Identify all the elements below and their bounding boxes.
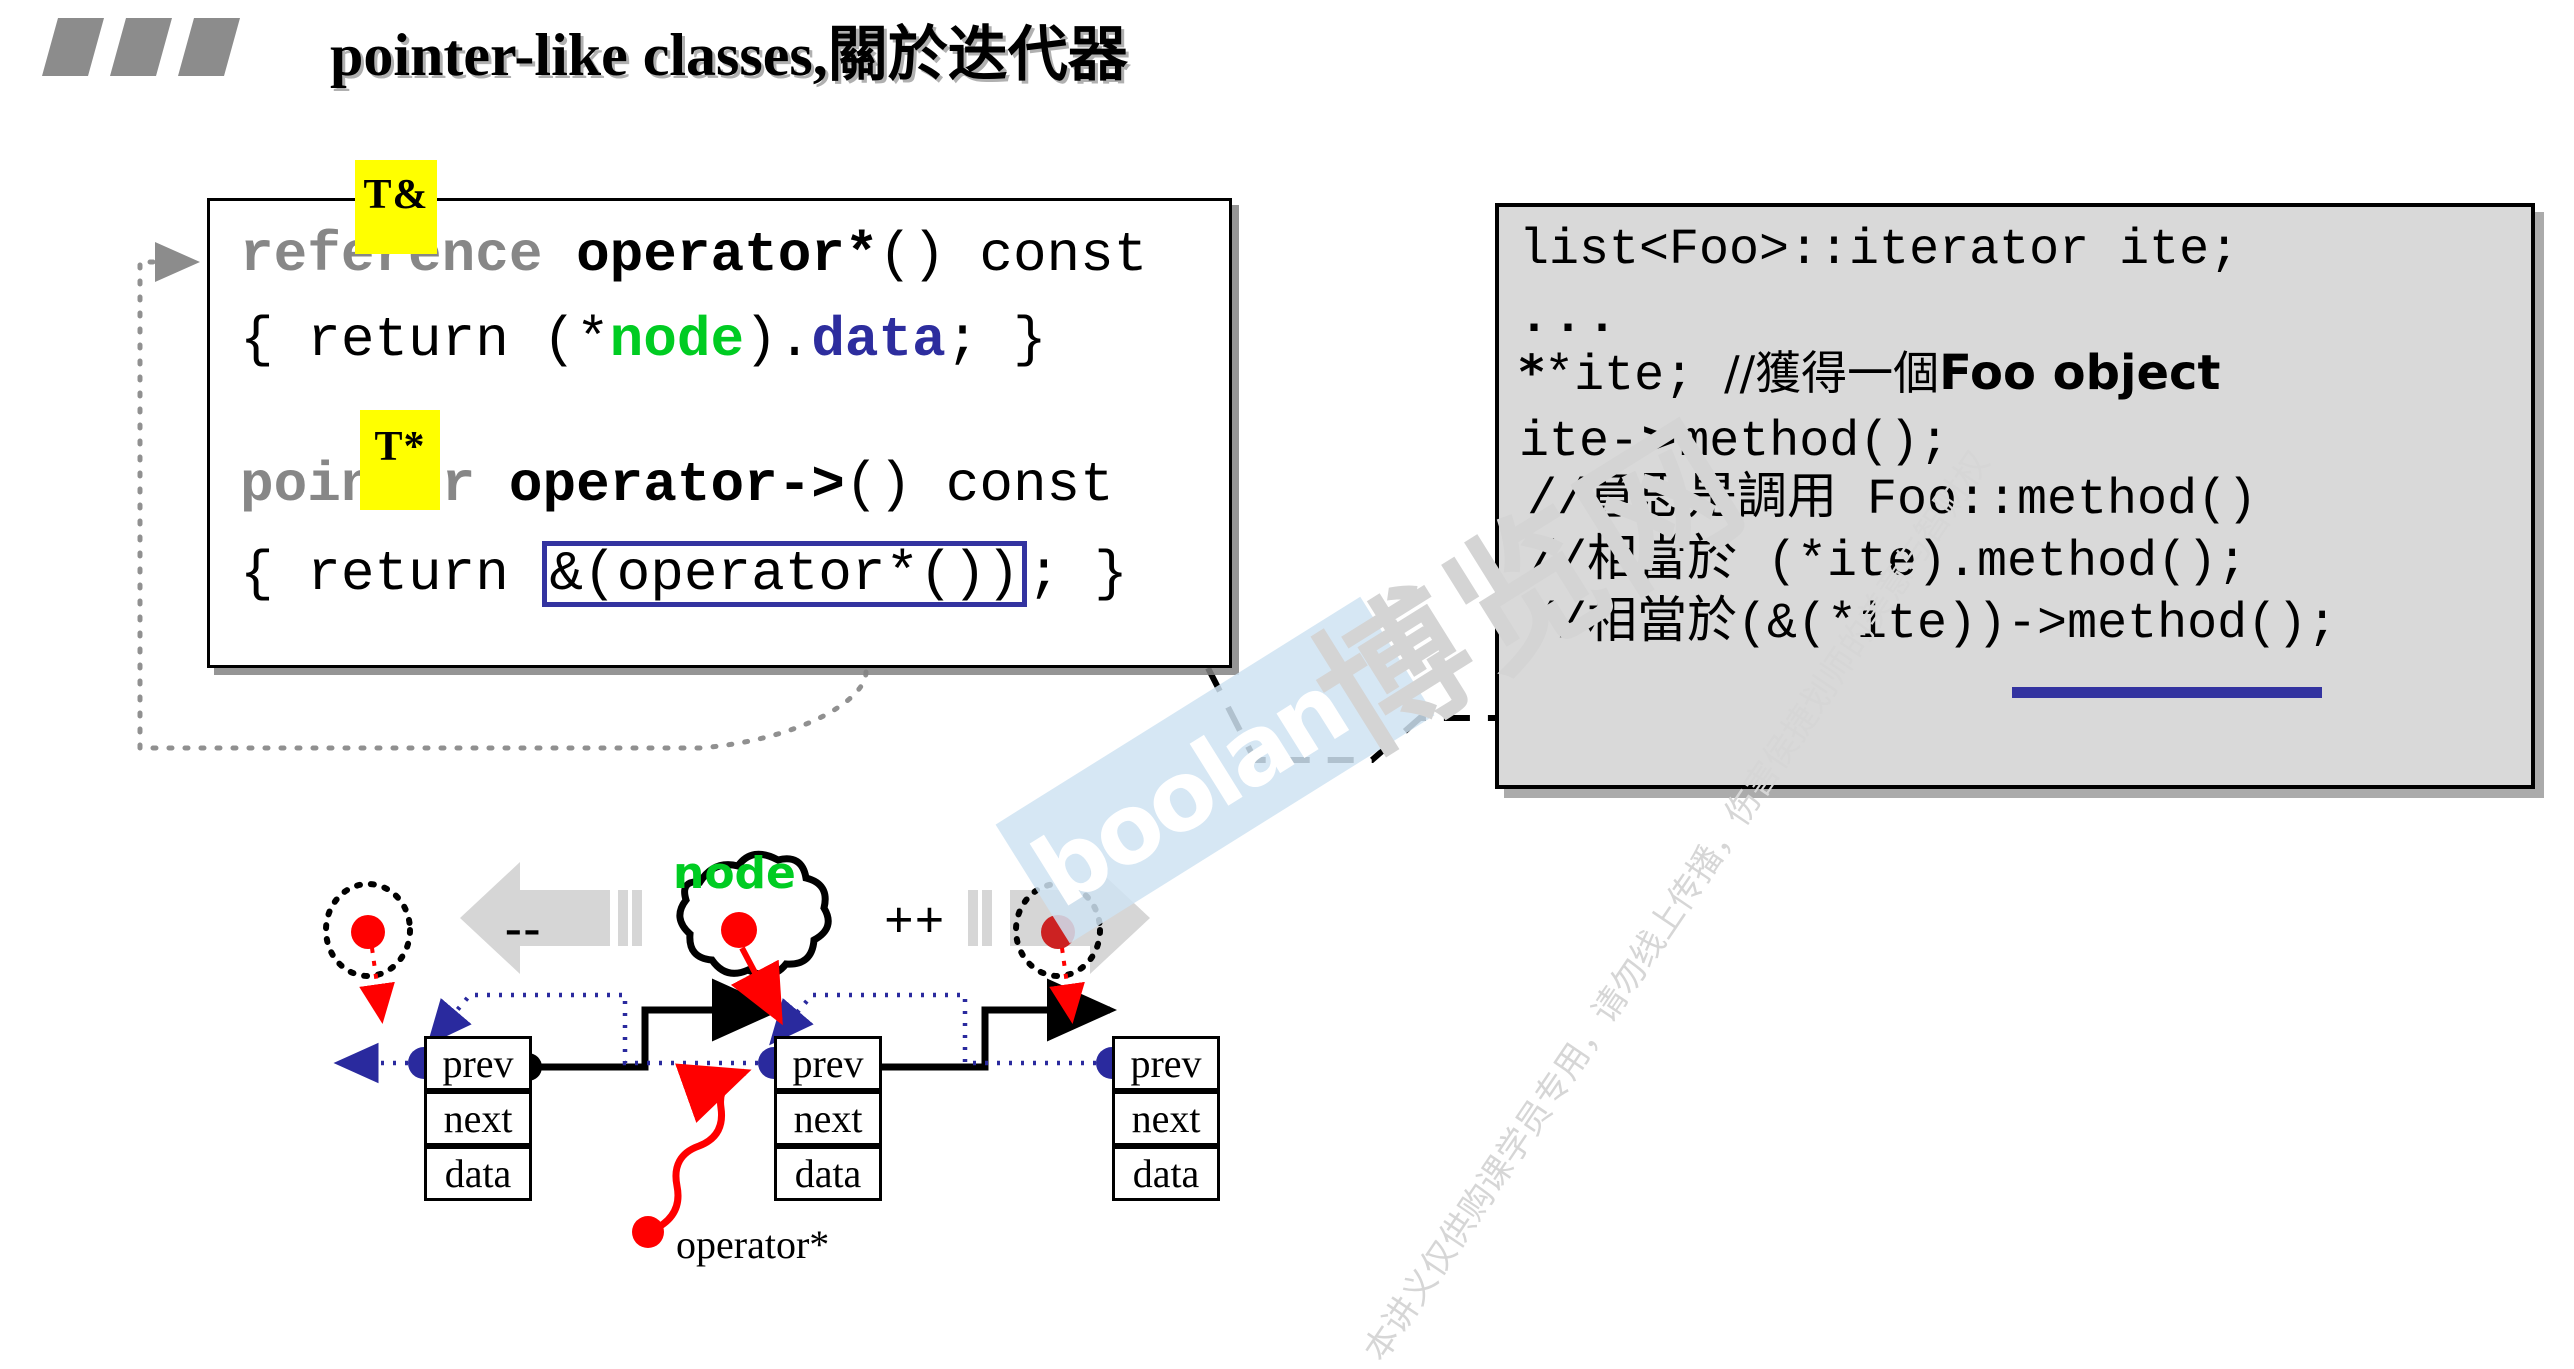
deref-code: *ite; [1544, 348, 1724, 405]
slide-title-bar: pointer-like classes,關於迭代器 [0, 0, 2574, 110]
operator-arrow-tail: () const [845, 453, 1114, 517]
operator-star-label: operator* [676, 1221, 829, 1268]
arrow-glyph: > [1639, 411, 1679, 467]
node-field-data: data [424, 1146, 532, 1201]
iterator-next-blob [1016, 884, 1100, 1020]
node-field-data: data [1112, 1146, 1220, 1201]
blue-underline-rule [2012, 687, 2322, 698]
decrement-label: -- [505, 898, 542, 956]
page-title: pointer-like classes,關於迭代器 [330, 6, 1128, 93]
body-mid: ). [744, 308, 811, 372]
code-line-operator-arrow-body: { return &(operator*()); } [240, 541, 1128, 607]
node-field-prev: prev [424, 1036, 532, 1091]
arrow-body-open: { return [240, 542, 542, 606]
highlighted-expression-box: &(operator*()) [542, 541, 1026, 607]
node-pointer-label: node [673, 848, 796, 899]
member-data: data [811, 308, 945, 372]
node-field-next: next [774, 1091, 882, 1146]
gray-line-comment-equiv2: //相當於(&(*ite))->method(); [1527, 599, 2337, 651]
body-close: ; } [946, 308, 1047, 372]
node-field-next: next [424, 1091, 532, 1146]
body-open: { return (* [240, 308, 610, 372]
decrement-block-arrow [460, 862, 642, 974]
gray-line-comment-meaning: //意思是調用 Foo::method() [1527, 475, 2257, 527]
arrow-body-close: ; } [1027, 542, 1128, 606]
gray-line-deref: **ite; //獲得一個Foo object [1519, 347, 2220, 403]
iterator-usage-box: list<Foo>::iterator ite; ... **ite; //獲得… [1495, 203, 2535, 789]
operator-arrow-dashed-connector [1208, 668, 1497, 760]
deref-comment: //獲得一個 [1724, 346, 1939, 400]
operator-arrow-name: operator-> [509, 453, 845, 517]
watermark-brand-latin: boolan [1014, 653, 1364, 930]
three-slanted-bars-icon [42, 18, 272, 80]
gray-line-ellipsis: ... [1519, 293, 1621, 345]
code-line-operator-star-body: { return (*node).data; } [240, 311, 1047, 369]
node-field-prev: prev [774, 1036, 882, 1091]
arrow-call-suffix: method(); [1679, 414, 1949, 471]
chip-reference-type: T& [355, 160, 437, 254]
page-title-latin: pointer-like classes, [330, 22, 828, 88]
operator-star-name: operator* [576, 223, 878, 287]
member-node: node [610, 308, 744, 372]
deref-object: Foo object [1939, 345, 2220, 401]
deref-star: * [1519, 345, 1544, 401]
gray-line-comment-equiv1: //相當於 (*ite).method(); [1527, 537, 2247, 589]
node-field-next: next [1112, 1091, 1220, 1146]
iterator-prev-blob [326, 884, 410, 1020]
arrow-call-prefix: ite- [1519, 414, 1639, 471]
operator-star-tail: () const [879, 223, 1148, 287]
increment-label: ++ [884, 891, 945, 950]
increment-block-arrow [968, 862, 1150, 974]
node-field-data: data [774, 1146, 882, 1201]
node-field-prev: prev [1112, 1036, 1220, 1091]
chip-pointer-type: T* [360, 410, 440, 510]
gray-line-declaration: list<Foo>::iterator ite; [1519, 225, 2239, 277]
page-title-cjk: 關於迭代器 [828, 20, 1128, 90]
gray-line-arrow-call: ite->method(); [1519, 413, 1949, 469]
